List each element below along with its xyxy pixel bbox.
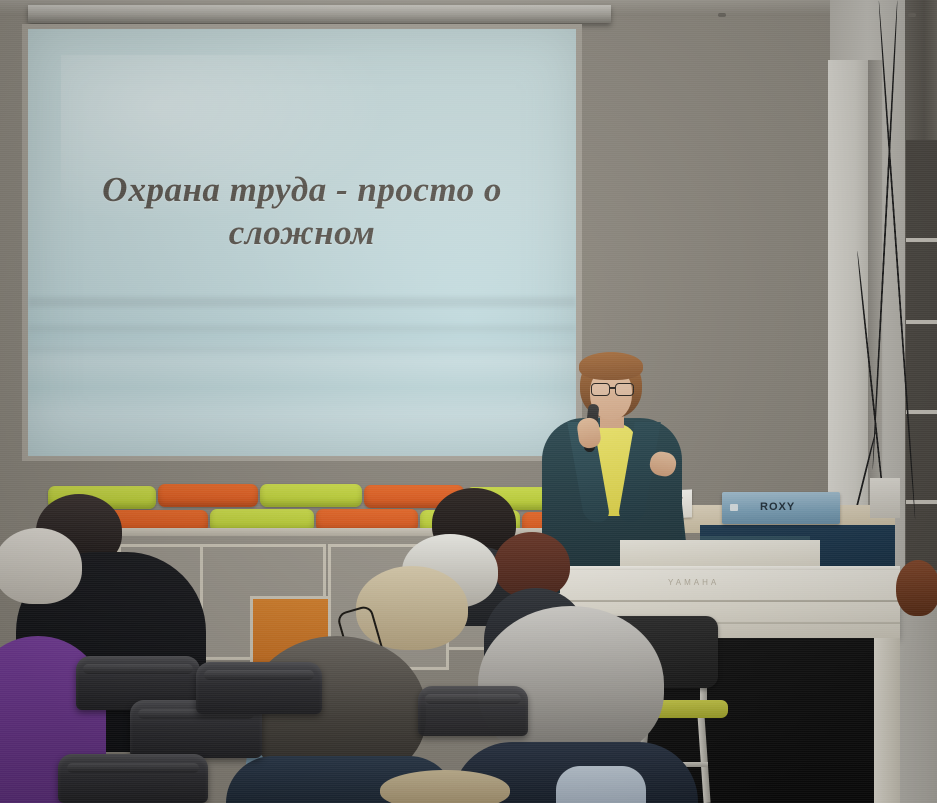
cushion [158,484,258,507]
white-equipment-box [870,478,900,518]
shelf-divider [906,238,937,242]
shelf-divider [906,320,937,324]
projector-screen-rail [28,5,611,23]
audience-head [896,560,937,616]
slide-title: Охрана труда - просто о сложном [62,169,542,254]
amplifier-brand-label: ROXY [760,501,795,513]
presenter-hair-front [579,352,643,380]
audience-head [380,770,510,803]
audience-head [0,528,82,604]
cushion [260,484,362,507]
auditorium-seat[interactable] [418,686,528,736]
auditorium-seat[interactable] [58,754,208,803]
shelf-divider [906,500,937,504]
piano-leg [874,638,900,803]
projection-screen: Охрана труда - просто о сложном [28,29,576,456]
audience-head [478,606,664,762]
eyeglasses-icon [591,383,610,396]
audience-collar [556,766,646,803]
slide-title-line-1: Охрана труда - просто о [62,169,542,212]
bookshelf-column [906,140,937,570]
eyeglasses-bridge [609,387,615,389]
shelf-divider [906,410,937,414]
amplifier-indicator [730,504,738,511]
auditorium-seat[interactable] [196,662,322,714]
eyeglasses-icon [615,383,634,396]
presentation-photo: Охрана труда - просто о сложном ROXY [0,0,937,803]
roxy-amplifier: ROXY [722,492,840,524]
slide-title-line-2: сложном [62,212,542,255]
piano-brand-label: YAMAHA [668,578,719,587]
